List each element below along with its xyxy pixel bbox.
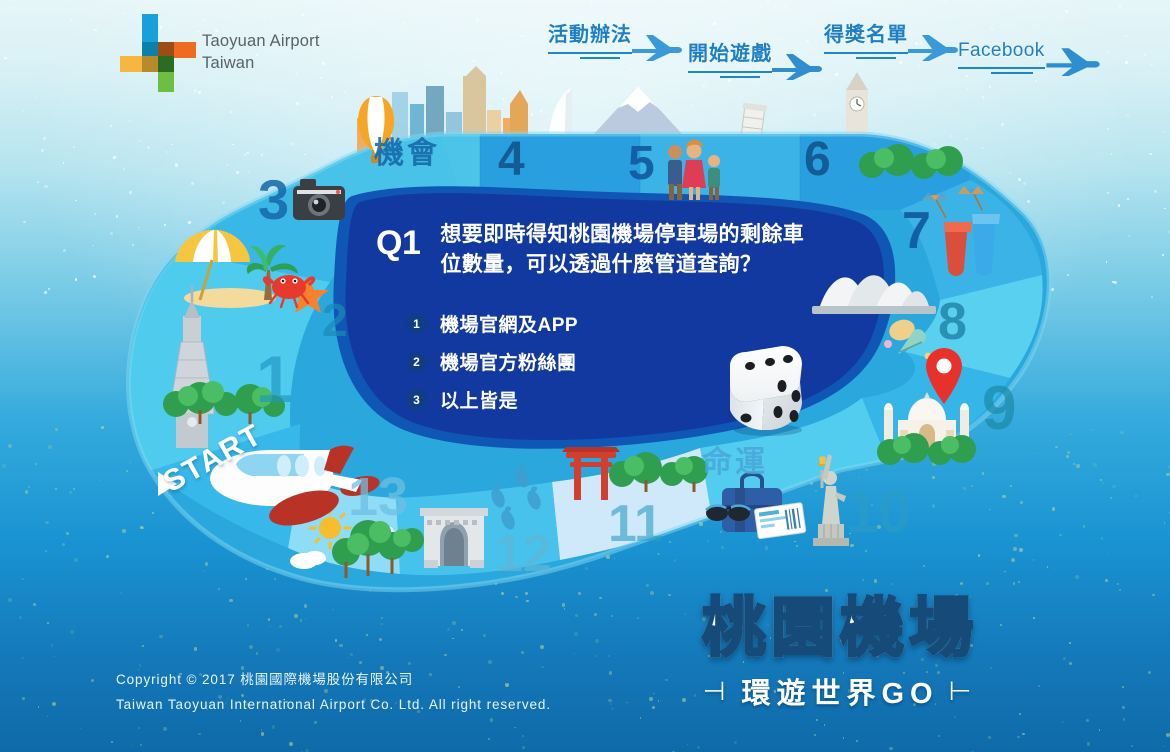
tile-label-11[interactable]: 11 bbox=[608, 498, 663, 550]
option-3[interactable]: 3 以上皆是 bbox=[406, 386, 578, 413]
tile-label-1[interactable]: 1 bbox=[256, 346, 293, 412]
question-header: Q1 想要即時得知桃園機場停車場的剩餘車位數量，可以透過什麼管道查詢？ bbox=[376, 220, 820, 280]
tile-label-3[interactable]: 3 bbox=[258, 172, 289, 228]
start-tile[interactable]: START bbox=[158, 470, 266, 504]
nav-underline-2 bbox=[688, 69, 772, 78]
tile-label-chance[interactable]: 機會 bbox=[374, 139, 440, 169]
tile-label-12[interactable]: 12 bbox=[494, 528, 552, 580]
copyright-line-1: Copyright © 2017 桃園國際機場股份有限公司 bbox=[116, 668, 551, 693]
option-1-label: 機場官網及APP bbox=[440, 310, 578, 337]
option-2[interactable]: 2 機場官方粉絲團 bbox=[406, 348, 578, 375]
tile-label-10[interactable]: 10 bbox=[846, 484, 911, 542]
option-3-bullet: 3 bbox=[406, 389, 427, 410]
question-text: 想要即時得知桃園機場停車場的剩餘車位數量，可以透過什麼管道查詢？ bbox=[440, 220, 820, 280]
tile-label-4[interactable]: 4 bbox=[498, 136, 525, 184]
nav-item-facebook[interactable]: Facebook bbox=[958, 40, 1101, 74]
tile-label-7[interactable]: 7 bbox=[902, 205, 931, 257]
bracket-right-icon: ⊢ bbox=[949, 676, 978, 707]
copyright-line-2: Taiwan Taoyuan International Airport Co.… bbox=[116, 693, 551, 718]
nav-label-3: 得獎名單 bbox=[824, 18, 908, 47]
airplane-icon bbox=[1043, 44, 1101, 76]
nav-item-winners-list[interactable]: 得獎名單 bbox=[824, 18, 958, 59]
boarding-pass-icon bbox=[754, 503, 806, 539]
nav-underline-3 bbox=[824, 50, 908, 59]
main-nav: 活動辦法 開始遊戲 得獎名單 bbox=[0, 0, 1170, 100]
arc-de-triomphe-icon bbox=[420, 508, 488, 568]
game-title-sub: 環遊世界GO bbox=[741, 670, 938, 712]
airplane-icon bbox=[630, 31, 682, 61]
airplane-icon bbox=[770, 50, 822, 80]
nav-underline-4 bbox=[958, 65, 1045, 74]
tile-label-fate[interactable]: 命運 bbox=[702, 448, 768, 478]
page-header: Taoyuan Airport Taiwan 活動辦法 開始遊戲 得 bbox=[0, 0, 1170, 100]
game-title-logo: 桃園機場 ⊣ 環遊世界GO ⊢ bbox=[630, 596, 1050, 712]
nav-label-1: 活動辦法 bbox=[548, 18, 632, 47]
airplane-icon bbox=[906, 31, 958, 61]
option-2-label: 機場官方粉絲團 bbox=[440, 348, 577, 375]
nav-item-activity-rules[interactable]: 活動辦法 bbox=[548, 18, 682, 59]
game-title-main: 桃園機場 bbox=[630, 596, 1050, 660]
tile-label-9[interactable]: 9 bbox=[982, 378, 1016, 440]
bracket-left-icon: ⊣ bbox=[703, 676, 732, 707]
tile-label-6[interactable]: 6 bbox=[804, 136, 831, 184]
tile-label-2[interactable]: 2 bbox=[322, 297, 348, 343]
option-3-label: 以上皆是 bbox=[440, 386, 518, 413]
nav-underline-1 bbox=[548, 50, 632, 59]
nav-label-4: Facebook bbox=[958, 40, 1045, 62]
tile-label-5[interactable]: 5 bbox=[628, 140, 655, 188]
game-title-sub-row: ⊣ 環遊世界GO ⊢ bbox=[630, 670, 1050, 712]
copyright-block: Copyright © 2017 桃園國際機場股份有限公司 Taiwan Tao… bbox=[116, 668, 551, 718]
question-options: 1 機場官網及APP 2 機場官方粉絲團 3 以上皆是 bbox=[406, 310, 578, 413]
option-1-bullet: 1 bbox=[406, 313, 427, 334]
option-1[interactable]: 1 機場官網及APP bbox=[406, 310, 578, 337]
tile-label-8[interactable]: 8 bbox=[938, 296, 967, 348]
nav-label-2: 開始遊戲 bbox=[688, 37, 772, 66]
question-number: Q1 bbox=[376, 220, 420, 280]
option-2-bullet: 2 bbox=[406, 351, 427, 372]
tile-label-13[interactable]: 13 bbox=[348, 470, 408, 524]
dice-icon[interactable] bbox=[712, 338, 820, 436]
nav-item-start-game[interactable]: 開始遊戲 bbox=[688, 37, 822, 78]
